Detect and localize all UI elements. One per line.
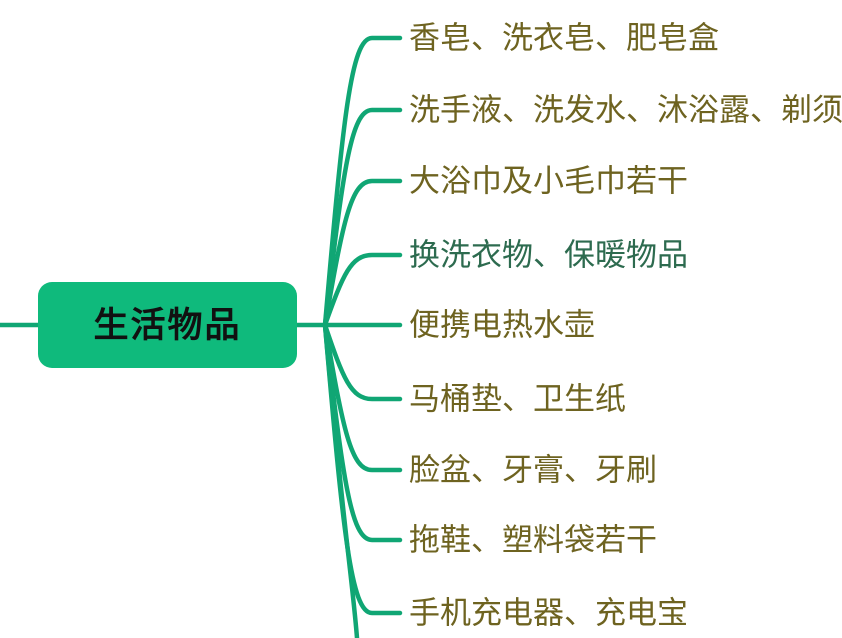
leaf-label-3[interactable]: 大浴巾及小毛巾若干 xyxy=(409,166,688,197)
root-node-label: 生活物品 xyxy=(93,308,241,343)
leaf-label-9[interactable]: 手机充电器、充电宝 xyxy=(409,598,688,629)
leaf-label-6[interactable]: 马桶垫、卫生纸 xyxy=(409,384,626,415)
mindmap-canvas: 生活物品 香皂、洗衣皂、肥皂盒 洗手液、洗发水、沐浴露、剃须刀 大浴巾及小毛巾若… xyxy=(0,0,842,638)
leaf-label-5[interactable]: 便携电热水壶 xyxy=(409,310,595,341)
root-node[interactable]: 生活物品 xyxy=(38,282,297,368)
leaf-label-4[interactable]: 换洗衣物、保暖物品 xyxy=(409,240,688,271)
leaf-label-2[interactable]: 洗手液、洗发水、沐浴露、剃须刀 xyxy=(409,95,842,126)
leaf-label-7[interactable]: 脸盆、牙膏、牙刷 xyxy=(409,455,657,486)
leaf-label-8[interactable]: 拖鞋、塑料袋若干 xyxy=(409,525,657,556)
leaf-label-1[interactable]: 香皂、洗衣皂、肥皂盒 xyxy=(409,23,719,54)
